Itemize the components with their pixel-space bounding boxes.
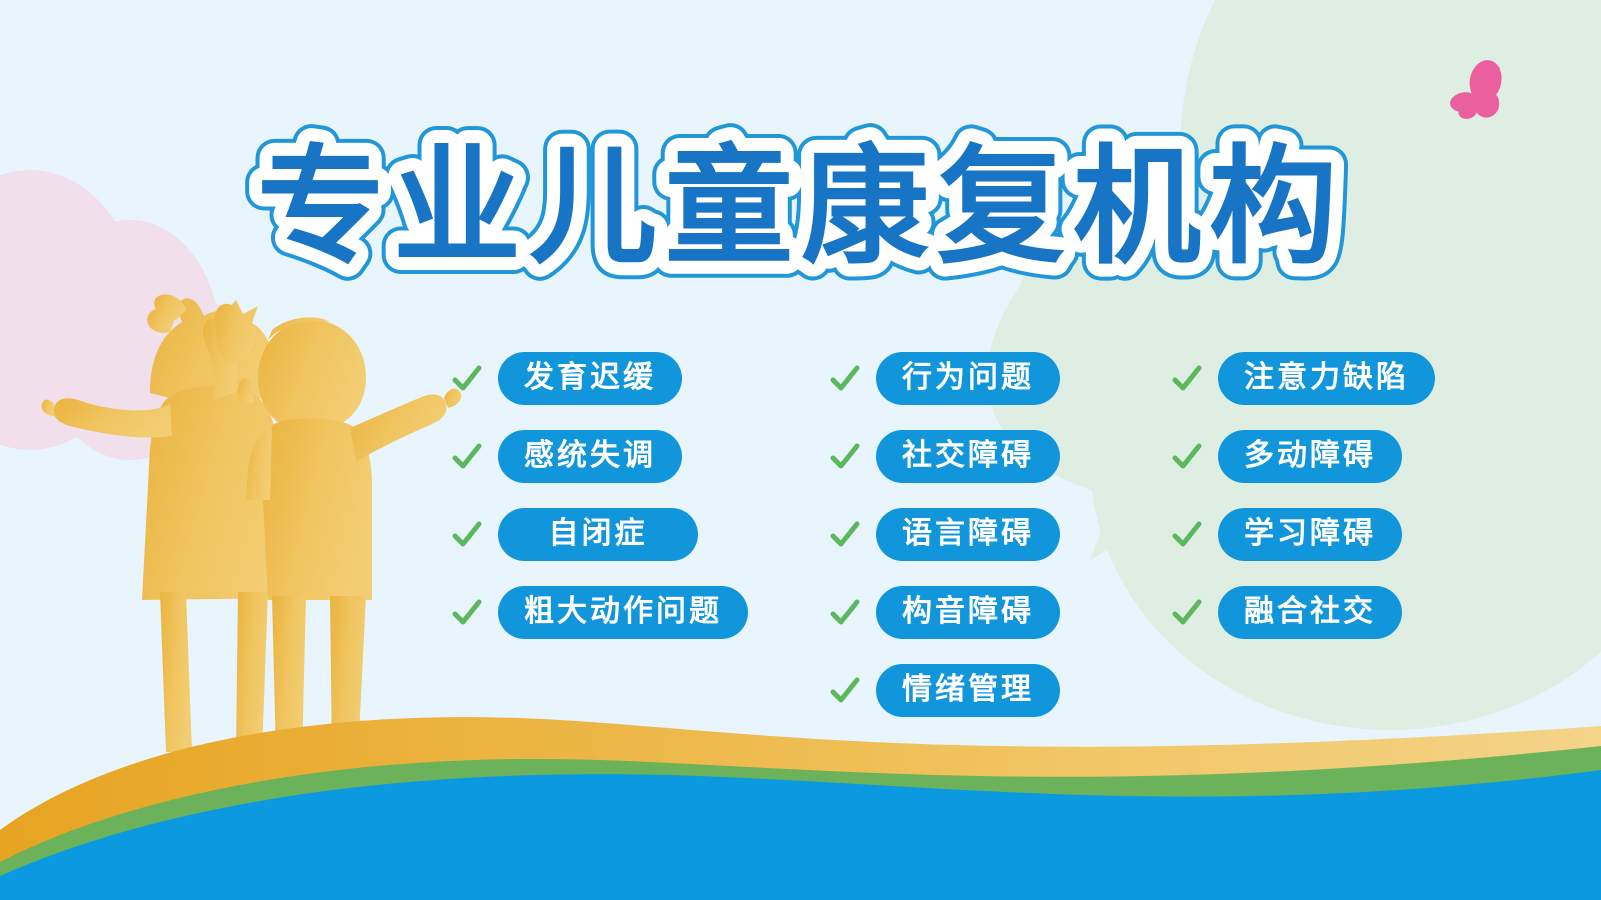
check-icon [1172, 520, 1202, 550]
check-icon [1172, 442, 1202, 472]
tag-item[interactable]: 粗大动作问题 [452, 586, 830, 639]
tag-pill[interactable]: 行为问题 [876, 352, 1060, 405]
poster-canvas: 专业儿童康复机构 专业儿童康复机构 专业儿童康复机构 发育迟缓 [0, 0, 1601, 900]
tag-item[interactable]: 注意力缺陷 [1172, 352, 1435, 405]
tag-item[interactable]: 学习障碍 [1172, 508, 1435, 561]
check-icon [830, 442, 860, 472]
tag-item[interactable]: 语言障碍 [830, 508, 1172, 561]
tag-label: 注意力缺陷 [1244, 363, 1409, 393]
check-icon [1172, 364, 1202, 394]
tag-column-2: 行为问题 社交障碍 语言障碍 [830, 352, 1172, 717]
tag-label: 发育迟缓 [524, 363, 656, 393]
tag-label: 语言障碍 [902, 519, 1034, 549]
tag-label: 情绪管理 [902, 675, 1034, 705]
tag-label: 感统失调 [524, 441, 656, 471]
check-icon [830, 676, 860, 706]
tag-label: 社交障碍 [902, 441, 1034, 471]
boy-head [258, 320, 366, 430]
tag-pill[interactable]: 多动障碍 [1218, 430, 1402, 483]
service-tag-grid: 发育迟缓 感统失调 自闭症 [452, 352, 1552, 732]
tag-pill[interactable]: 融合社交 [1218, 586, 1402, 639]
check-icon [452, 598, 482, 628]
tag-pill[interactable]: 自闭症 [498, 508, 698, 561]
tag-label: 学习障碍 [1244, 519, 1376, 549]
check-icon [830, 520, 860, 550]
tag-item[interactable]: 感统失调 [452, 430, 830, 483]
tag-column-3: 注意力缺陷 多动障碍 学习障碍 [1172, 352, 1435, 639]
tag-pill[interactable]: 语言障碍 [876, 508, 1060, 561]
check-icon [830, 364, 860, 394]
check-icon [452, 442, 482, 472]
tag-label: 融合社交 [1244, 597, 1376, 627]
tag-label: 多动障碍 [1244, 441, 1376, 471]
check-icon [452, 520, 482, 550]
check-icon [1172, 598, 1202, 628]
tag-pill[interactable]: 社交障碍 [876, 430, 1060, 483]
tag-label: 构音障碍 [902, 597, 1034, 627]
tag-item[interactable]: 社交障碍 [830, 430, 1172, 483]
tag-item[interactable]: 融合社交 [1172, 586, 1435, 639]
tag-item[interactable]: 多动障碍 [1172, 430, 1435, 483]
tag-item[interactable]: 构音障碍 [830, 586, 1172, 639]
tag-pill[interactable]: 情绪管理 [876, 664, 1060, 717]
check-icon [452, 364, 482, 394]
tag-label: 自闭症 [549, 519, 648, 549]
tag-item[interactable]: 行为问题 [830, 352, 1172, 405]
tag-pill[interactable]: 注意力缺陷 [1218, 352, 1435, 405]
tag-pill[interactable]: 发育迟缓 [498, 352, 682, 405]
check-icon [830, 598, 860, 628]
tag-item[interactable]: 自闭症 [452, 508, 830, 561]
tag-label: 行为问题 [902, 363, 1034, 393]
tag-pill[interactable]: 构音障碍 [876, 586, 1060, 639]
tag-column-1: 发育迟缓 感统失调 自闭症 [452, 352, 830, 639]
tag-pill[interactable]: 学习障碍 [1218, 508, 1402, 561]
tag-item[interactable]: 发育迟缓 [452, 352, 830, 405]
tag-label: 粗大动作问题 [524, 597, 722, 627]
tag-pill[interactable]: 粗大动作问题 [498, 586, 748, 639]
tag-pill[interactable]: 感统失调 [498, 430, 682, 483]
tag-item[interactable]: 情绪管理 [830, 664, 1172, 717]
